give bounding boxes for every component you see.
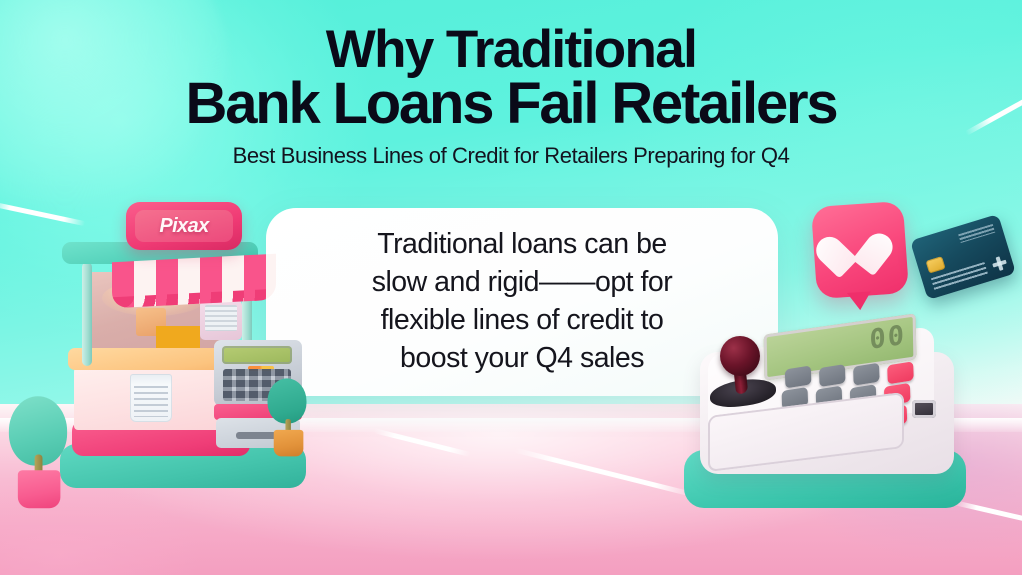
storefront-illustration: Pixax (38, 196, 328, 526)
message-line-1: Traditional loans can be (372, 226, 673, 264)
plant-crown (268, 378, 307, 423)
monitor-icon (200, 300, 242, 340)
small-register-slot (236, 432, 278, 439)
register-key (853, 363, 880, 386)
credit-card-top-lines (958, 224, 995, 243)
cash-register-illustration: 00 (684, 318, 984, 538)
headline-line-1: Why Traditional (0, 24, 1022, 76)
tree-pot (18, 470, 61, 508)
credit-card-chip (926, 256, 946, 273)
potted-plant-icon (268, 378, 307, 423)
storefront-sign-label: Pixax (159, 215, 208, 238)
register-key (819, 364, 846, 387)
page-subtitle: Best Business Lines of Credit for Retail… (0, 143, 1022, 169)
card-slot-icon (912, 400, 936, 418)
heart-shape (833, 226, 886, 273)
message-line-4: boost your Q4 sales (372, 340, 673, 378)
storefront-pillar-left (82, 262, 92, 366)
plant-pot (274, 430, 304, 457)
message-line-3: flexible lines of credit to (372, 302, 673, 340)
message-card-text: Traditional loans can be slow and rigid—… (350, 226, 695, 378)
register-key (785, 365, 812, 388)
potted-tree-icon (9, 396, 67, 465)
credit-card-plus-mark (991, 255, 1008, 272)
receipt-icon (130, 374, 172, 422)
heart-speech-bubble-icon (811, 201, 909, 299)
register-key-red (887, 361, 914, 384)
small-register-screen (222, 346, 292, 364)
storefront-sign-inner: Pixax (135, 210, 233, 242)
page-title: Why Traditional Bank Loans Fail Retailer… (0, 24, 1022, 133)
headline-line-2: Bank Loans Fail Retailers (0, 76, 1022, 133)
joystick-lever-icon (720, 336, 760, 376)
awning-icon (112, 254, 276, 309)
storefront-sign: Pixax (126, 202, 242, 250)
poster-canvas: Why Traditional Bank Loans Fail Retailer… (0, 0, 1022, 575)
message-line-2: slow and rigid——opt for (372, 264, 673, 302)
coins-icon (156, 326, 200, 350)
